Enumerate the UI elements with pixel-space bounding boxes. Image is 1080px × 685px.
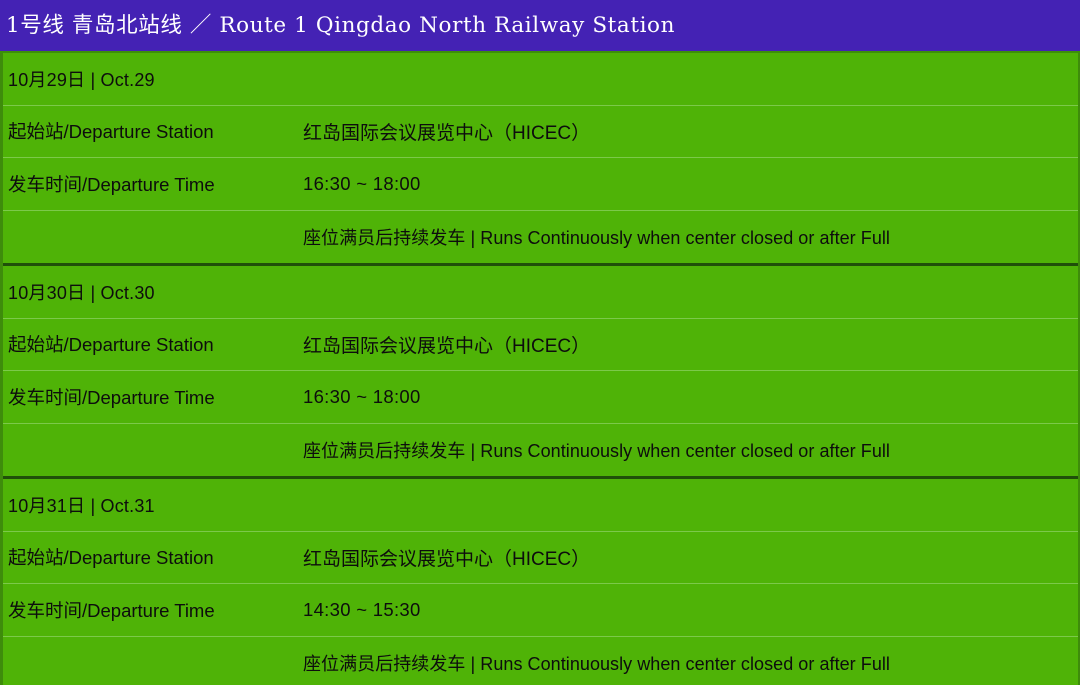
- note-value: 座位满员后持续发车 | Runs Continuously when cente…: [301, 650, 1078, 676]
- date-label: 10月29日 | Oct.29: [3, 66, 301, 92]
- departure-time-value: 16:30 ~ 18:00: [301, 386, 1078, 408]
- departure-time-value: 14:30 ~ 15:30: [301, 599, 1078, 621]
- day-group: 10月31日 | Oct.31 起始站/Departure Station 红岛…: [3, 479, 1078, 685]
- route-title: 1号线 青岛北站线 ／ Route 1 Qingdao North Railwa…: [6, 15, 675, 37]
- date-label: 10月31日 | Oct.31: [3, 492, 301, 518]
- departure-time-value: 16:30 ~ 18:00: [301, 173, 1078, 195]
- departure-station-row: 起始站/Departure Station 红岛国际会议展览中心（HICEC）: [3, 532, 1078, 585]
- departure-station-row: 起始站/Departure Station 红岛国际会议展览中心（HICEC）: [3, 106, 1078, 159]
- departure-time-label: 发车时间/Departure Time: [3, 597, 301, 623]
- departure-station-value: 红岛国际会议展览中心（HICEC）: [301, 544, 1078, 571]
- departure-station-label: 起始站/Departure Station: [3, 118, 301, 144]
- note-value: 座位满员后持续发车 | Runs Continuously when cente…: [301, 224, 1078, 250]
- note-row: 座位满员后持续发车 | Runs Continuously when cente…: [3, 211, 1078, 264]
- schedule-table: 10月29日 | Oct.29 起始站/Departure Station 红岛…: [0, 53, 1080, 685]
- shuttle-schedule-card: 1号线 青岛北站线 ／ Route 1 Qingdao North Railwa…: [0, 0, 1080, 685]
- departure-time-row: 发车时间/Departure Time 14:30 ~ 15:30: [3, 584, 1078, 637]
- departure-time-label: 发车时间/Departure Time: [3, 171, 301, 197]
- date-label: 10月30日 | Oct.30: [3, 279, 301, 305]
- departure-station-value: 红岛国际会议展览中心（HICEC）: [301, 118, 1078, 145]
- departure-station-value: 红岛国际会议展览中心（HICEC）: [301, 331, 1078, 358]
- route-header: 1号线 青岛北站线 ／ Route 1 Qingdao North Railwa…: [0, 0, 1080, 53]
- date-row: 10月30日 | Oct.30: [3, 266, 1078, 319]
- departure-time-row: 发车时间/Departure Time 16:30 ~ 18:00: [3, 371, 1078, 424]
- departure-station-label: 起始站/Departure Station: [3, 331, 301, 357]
- date-row: 10月31日 | Oct.31: [3, 479, 1078, 532]
- day-group: 10月29日 | Oct.29 起始站/Departure Station 红岛…: [3, 53, 1078, 266]
- departure-station-label: 起始站/Departure Station: [3, 544, 301, 570]
- day-group: 10月30日 | Oct.30 起始站/Departure Station 红岛…: [3, 266, 1078, 479]
- date-row: 10月29日 | Oct.29: [3, 53, 1078, 106]
- note-value: 座位满员后持续发车 | Runs Continuously when cente…: [301, 437, 1078, 463]
- departure-time-label: 发车时间/Departure Time: [3, 384, 301, 410]
- departure-station-row: 起始站/Departure Station 红岛国际会议展览中心（HICEC）: [3, 319, 1078, 372]
- note-row: 座位满员后持续发车 | Runs Continuously when cente…: [3, 637, 1078, 685]
- note-row: 座位满员后持续发车 | Runs Continuously when cente…: [3, 424, 1078, 477]
- departure-time-row: 发车时间/Departure Time 16:30 ~ 18:00: [3, 158, 1078, 211]
